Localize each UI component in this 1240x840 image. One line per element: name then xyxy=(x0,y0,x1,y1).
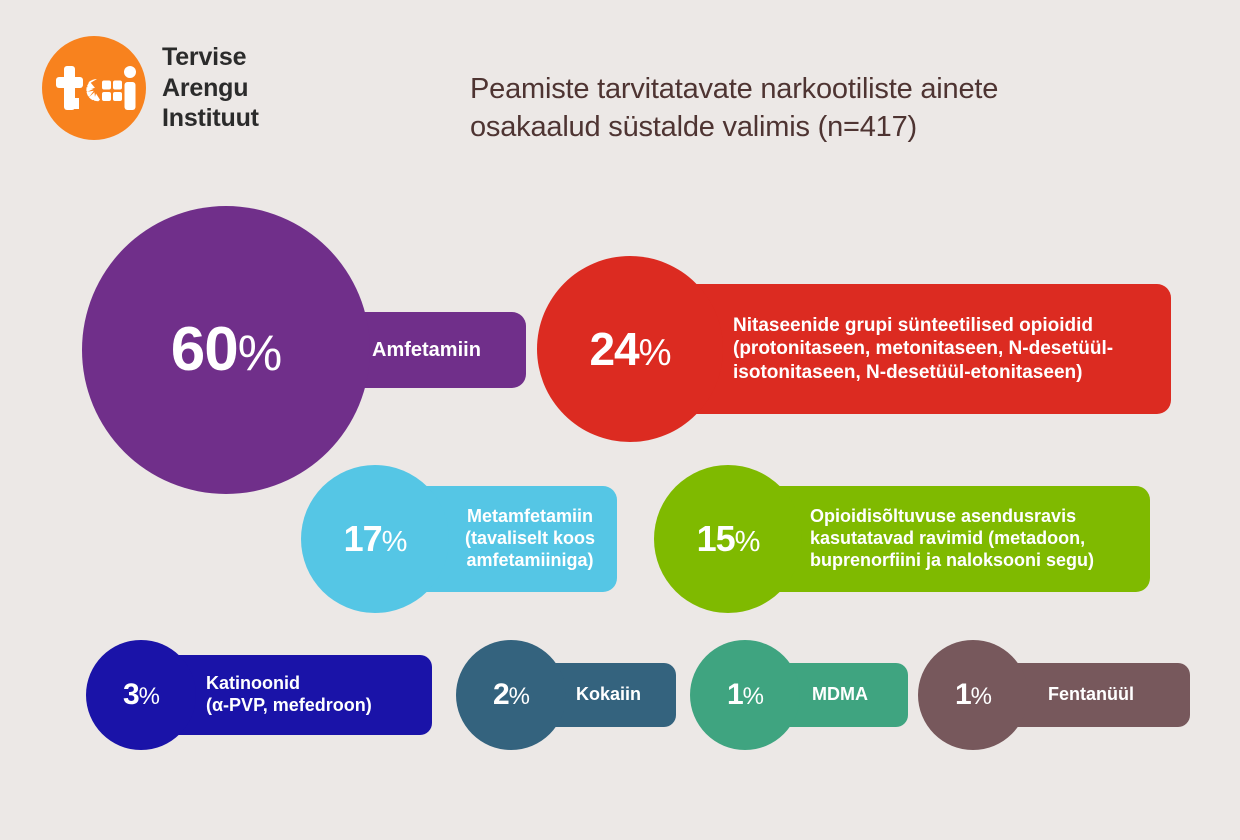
stat-label-line-3: buprenorfiini ja naloksooni segu) xyxy=(810,550,1134,572)
stat-label-line-2: kasutatavad ravimid (metadoon, xyxy=(810,528,1134,550)
stat-value: 3 xyxy=(123,678,139,711)
stat-label-line-1: Opioidisõltuvuse asendusravis xyxy=(810,506,1134,528)
page-title-line-2: osakaalud süstalde valimis (n=417) xyxy=(470,108,1160,146)
tai-logo: Tervise Arengu Instituut xyxy=(42,36,259,140)
stat-bubble: 3% xyxy=(86,640,196,750)
stat-pod-asendusravi: 15% Opioidisõltuvuse asendusravis kasuta… xyxy=(654,465,1150,613)
stat-label-line-1: MDMA xyxy=(812,684,898,706)
stat-label-line-1: Fentanüül xyxy=(1048,684,1180,706)
stat-label: Fentanüül xyxy=(1048,684,1180,706)
logo-word-line-3: Instituut xyxy=(162,103,259,134)
percent-sign: % xyxy=(735,526,760,558)
percent-sign: % xyxy=(139,683,159,710)
stat-label-line-1: Kokaiin xyxy=(576,684,666,706)
stat-label: Amfetamiin xyxy=(372,338,510,362)
stat-label: Metamfetamiin (tavaliselt koos amfetamii… xyxy=(453,506,607,572)
stat-percentage: 24% xyxy=(589,326,670,372)
stat-label-tab: Katinoonid (α-PVP, mefedroon) xyxy=(164,655,432,735)
stat-value: 60 xyxy=(171,315,238,384)
stat-bubble: 15% xyxy=(654,465,802,613)
stat-value: 1 xyxy=(955,678,971,711)
percent-sign: % xyxy=(509,683,529,710)
stat-label-line-1: Amfetamiin xyxy=(372,338,510,362)
infographic-header: Tervise Arengu Instituut Peamiste tarvit… xyxy=(0,0,1240,170)
percent-sign: % xyxy=(238,325,281,381)
stat-bubble: 1% xyxy=(690,640,800,750)
stat-label-line-1: Nitaseenide grupi sünteetilised opioidid xyxy=(733,314,1151,337)
stat-percentage: 3% xyxy=(123,680,159,710)
stat-percentage: 60% xyxy=(171,319,281,381)
stat-bubble: 2% xyxy=(456,640,566,750)
stat-label-line-2: (α-PVP, mefedroon) xyxy=(206,695,420,717)
stat-label-line-3: isotonitaseen, N-desetüül-etonitaseen) xyxy=(733,361,1151,384)
tai-logo-wordmark: Tervise Arengu Instituut xyxy=(162,42,259,134)
tai-logo-icon xyxy=(42,36,146,140)
stat-pod-nitaseenid: 24% Nitaseenide grupi sünteetilised opio… xyxy=(537,256,1171,442)
percent-sign: % xyxy=(639,332,671,373)
stat-percentage: 15% xyxy=(697,521,760,557)
stat-pod-fentanyyl: 1% Fentanüül xyxy=(918,640,1190,750)
stat-label-line-1: Katinoonid xyxy=(206,673,420,695)
stat-pod-kokaiin: 2% Kokaiin xyxy=(456,640,676,750)
stat-value: 2 xyxy=(493,678,509,711)
stat-bubble: 24% xyxy=(537,256,723,442)
percent-sign: % xyxy=(743,683,763,710)
stat-label: Katinoonid (α-PVP, mefedroon) xyxy=(206,673,420,717)
page-title-line-1: Peamiste tarvitatavate narkootiliste ain… xyxy=(470,70,1160,108)
stat-label-line-2: (tavaliselt koos xyxy=(453,528,607,550)
stat-label: Kokaiin xyxy=(576,684,666,706)
stat-pod-mdma: 1% MDMA xyxy=(690,640,908,750)
stat-value: 17 xyxy=(344,518,382,559)
stat-value: 1 xyxy=(727,678,743,711)
stat-percentage: 17% xyxy=(344,521,407,557)
logo-word-line-2: Arengu xyxy=(162,73,259,104)
percent-sign: % xyxy=(382,526,407,558)
logo-word-line-1: Tervise xyxy=(162,42,259,73)
stat-label-tab: Opioidisõltuvuse asendusravis kasutatava… xyxy=(758,486,1150,592)
stat-label: Opioidisõltuvuse asendusravis kasutatava… xyxy=(810,506,1134,572)
stat-label-tab: Nitaseenide grupi sünteetilised opioidid… xyxy=(669,284,1171,414)
stat-pod-katinoonid: 3% Katinoonid (α-PVP, mefedroon) xyxy=(86,640,432,750)
stat-label: MDMA xyxy=(812,684,898,706)
stat-bubble: 60% xyxy=(82,206,370,494)
stat-value: 15 xyxy=(697,518,735,559)
stat-label-line-1: Metamfetamiin xyxy=(453,506,607,528)
stat-bubble: 1% xyxy=(918,640,1028,750)
page-title: Peamiste tarvitatavate narkootiliste ain… xyxy=(470,70,1160,147)
stat-percentage: 1% xyxy=(955,680,991,710)
stat-bubble: 17% xyxy=(301,465,449,613)
percent-sign: % xyxy=(971,683,991,710)
stat-percentage: 1% xyxy=(727,680,763,710)
stat-pod-amfetamiin: 60% Amfetamiin xyxy=(82,206,526,494)
stat-pod-metamfetamiin: 17% Metamfetamiin (tavaliselt koos amfet… xyxy=(301,465,617,613)
stat-label-line-2: (protonitaseen, metonitaseen, N-desetüül… xyxy=(733,337,1151,360)
stat-percentage: 2% xyxy=(493,680,529,710)
stat-value: 24 xyxy=(589,323,638,375)
stat-label: Nitaseenide grupi sünteetilised opioidid… xyxy=(733,314,1151,384)
stat-label-line-3: amfetamiiniga) xyxy=(453,550,607,572)
